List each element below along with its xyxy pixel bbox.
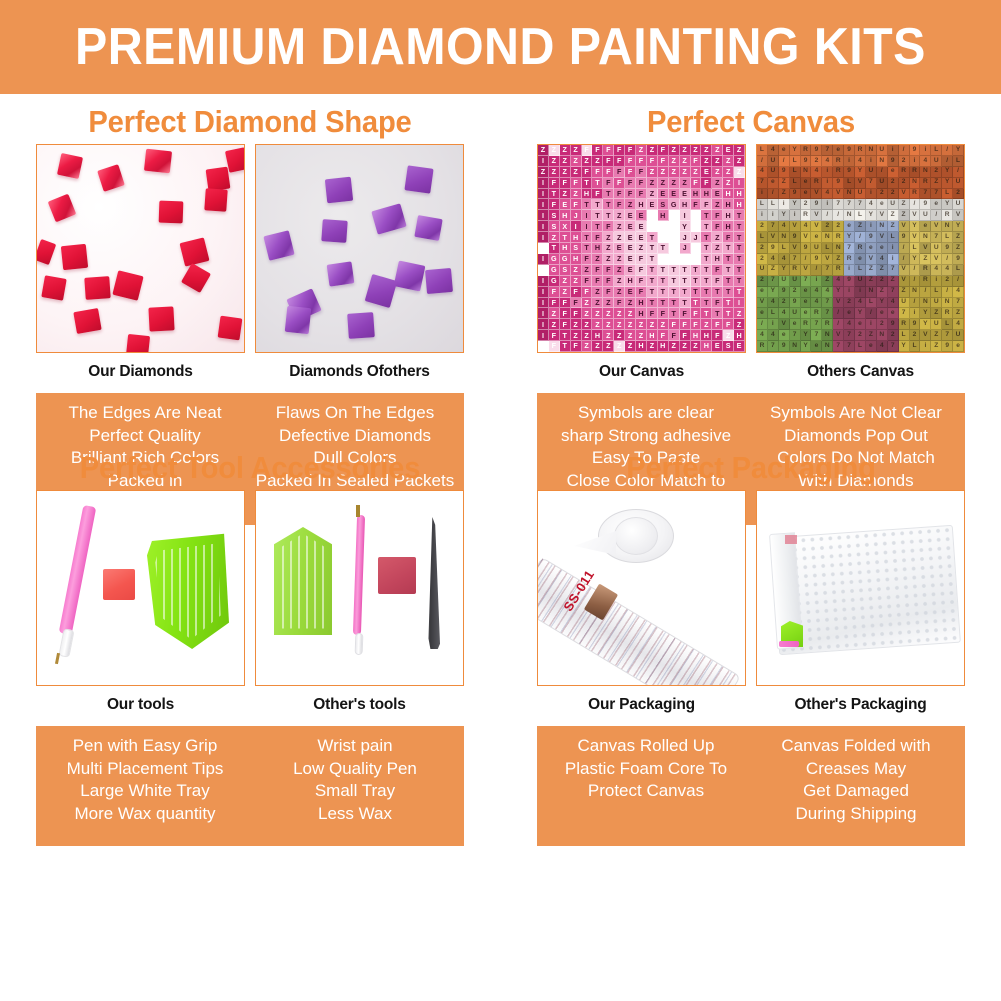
caption-other-packaging: Other's Packaging xyxy=(756,696,965,714)
symbol-cell: V xyxy=(811,210,822,221)
drill-purple xyxy=(327,261,355,286)
symbol-cell: T xyxy=(680,298,691,309)
symbol-cell: R xyxy=(790,265,801,276)
symbol-cell: R xyxy=(910,167,921,178)
symbol-cell: e xyxy=(855,319,866,330)
symbol-cell: Z xyxy=(592,254,603,265)
symbol-cell: Z xyxy=(636,243,647,254)
caption-others-canvas: Others Canvas xyxy=(756,363,965,381)
symbol-cell: V xyxy=(931,221,942,232)
symbol-cell: / xyxy=(942,145,953,156)
symbol-cell: T xyxy=(582,178,593,189)
symbol-cell: 2 xyxy=(757,254,768,265)
symbol-cell: e xyxy=(877,243,888,254)
symbol-cell: Z xyxy=(701,145,712,156)
symbol-cell: T xyxy=(658,287,669,298)
image-pair-packaging: SS-011 Our Packaging xyxy=(511,490,991,714)
drill-red xyxy=(225,147,245,173)
symbol-cell: Y xyxy=(910,254,921,265)
symbol-cell: Z xyxy=(669,156,680,167)
symbol-cell: L xyxy=(942,189,953,200)
symbol-cell: 4 xyxy=(757,167,768,178)
symbol-cell: e xyxy=(866,243,877,254)
symbol-cell: U xyxy=(757,265,768,276)
symbol-cell: N xyxy=(920,232,931,243)
symbol-cell: Z xyxy=(647,145,658,156)
symbol-cell: E xyxy=(669,189,680,200)
symbol-cell: i xyxy=(888,243,899,254)
drill-red xyxy=(144,149,172,174)
drill-red xyxy=(84,276,110,300)
symbol-cell: V xyxy=(899,221,910,232)
symbol-cell: e xyxy=(768,178,779,189)
symbol-cell: i xyxy=(855,287,866,298)
symbol-cell: Z xyxy=(571,276,582,287)
symbol-cell: Z xyxy=(614,232,625,243)
symbol-grid-others: L4eYR97e9RNUi/9iL/Y/U/L924Ri4iN92i4U/L4U… xyxy=(757,145,964,352)
symbol-cell: L xyxy=(768,308,779,319)
symbol-cell: H xyxy=(636,298,647,309)
symbol-cell: F xyxy=(603,156,614,167)
symbol-cell: Z xyxy=(603,298,614,309)
symbol-cell: Z xyxy=(560,276,571,287)
symbol-cell: I xyxy=(538,341,549,352)
symbol-cell: Y xyxy=(953,145,964,156)
symbol-cell: 4 xyxy=(822,189,833,200)
symbol-cell: T xyxy=(734,287,745,298)
photo-our-packaging: SS-011 xyxy=(537,490,746,686)
symbol-cell: R xyxy=(833,156,844,167)
symbol-cell: 9 xyxy=(779,167,790,178)
symbol-cell: 9 xyxy=(942,243,953,254)
symbol-cell: E xyxy=(636,232,647,243)
symbol-cell: T xyxy=(680,254,691,265)
symbol-cell: F xyxy=(712,276,723,287)
symbol-cell: Z xyxy=(614,319,625,330)
symbol-cell: / xyxy=(899,243,910,254)
symbol-cell: E xyxy=(625,221,636,232)
symbol-cell: F xyxy=(603,178,614,189)
symbol-cell: 7 xyxy=(866,178,877,189)
symbol-cell: L xyxy=(790,156,801,167)
symbol-cell: Z xyxy=(877,265,888,276)
symbol-cell: 9 xyxy=(844,145,855,156)
caption-other-tools: Other's tools xyxy=(255,696,464,714)
symbol-cell: e xyxy=(888,167,899,178)
symbol-cell: V xyxy=(779,319,790,330)
feature-box-packaging: Canvas Rolled Up Plastic Foam Core To Pr… xyxy=(537,726,965,846)
symbol-cell: Y xyxy=(790,145,801,156)
symbol-cell: 2 xyxy=(953,189,964,200)
symbol-cell: H xyxy=(723,189,734,200)
symbol-cell: H xyxy=(734,330,745,341)
symbol-cell: Y xyxy=(942,178,953,189)
symbol-cell: H xyxy=(636,341,647,352)
symbol-cell: Y xyxy=(877,298,888,309)
symbol-cell: R xyxy=(855,145,866,156)
symbol-cell: 2 xyxy=(877,276,888,287)
symbol-cell: i xyxy=(866,156,877,167)
symbol-cell: i xyxy=(822,178,833,189)
symbol-cell: L xyxy=(910,243,921,254)
symbol-cell: 4 xyxy=(801,221,812,232)
symbol-cell: Z xyxy=(614,308,625,319)
symbol-cell: 7 xyxy=(920,189,931,200)
symbol-cell: Z xyxy=(723,178,734,189)
symbol-cell: F xyxy=(614,178,625,189)
symbol-cell: 9 xyxy=(811,254,822,265)
symbol-cell: Z xyxy=(560,189,571,200)
symbol-cell: I xyxy=(538,221,549,232)
symbol-cell: E xyxy=(636,221,647,232)
symbol-cell: F xyxy=(712,210,723,221)
symbol-cell: J xyxy=(669,243,680,254)
symbol-cell: e xyxy=(811,232,822,243)
image-pair-canvas: ZZZZFFFFFZZFZZZZZEZIZZZZZFFFFFFZZFZZZZZZ… xyxy=(511,144,991,381)
symbol-cell: L xyxy=(822,243,833,254)
symbol-cell: L xyxy=(855,341,866,352)
symbol-cell: F xyxy=(625,189,636,200)
symbol-cell: Z xyxy=(571,319,582,330)
symbol-cell: 2 xyxy=(942,276,953,287)
symbol-cell: Z xyxy=(680,145,691,156)
feature-line: Pen with Easy Grip xyxy=(42,735,248,758)
symbol-cell: T xyxy=(669,254,680,265)
symbol-cell: F xyxy=(571,298,582,309)
symbol-cell: E xyxy=(625,265,636,276)
symbol-cell: 2 xyxy=(757,243,768,254)
symbol-cell: 7 xyxy=(768,341,779,352)
symbol-cell: Z xyxy=(779,189,790,200)
symbol-cell: T xyxy=(603,210,614,221)
photo-our-canvas: ZZZZFFFFFZZFZZZZZEZIZZZZZFFFFFFZZFZZZZZZ… xyxy=(537,144,746,353)
symbol-cell: Y xyxy=(691,254,702,265)
symbol-cell: E xyxy=(658,189,669,200)
symbol-cell: T xyxy=(723,254,734,265)
symbol-cell: E xyxy=(625,232,636,243)
photo-other-packaging xyxy=(756,490,965,686)
symbol-cell: L xyxy=(768,199,779,210)
symbol-cell: T xyxy=(669,298,680,309)
symbol-cell: E xyxy=(712,189,723,200)
symbol-cell: Z xyxy=(658,319,669,330)
symbol-cell: T xyxy=(658,276,669,287)
symbol-cell: F xyxy=(614,189,625,200)
symbol-cell: H xyxy=(658,210,669,221)
drill-purple xyxy=(425,268,453,294)
symbol-cell: Z xyxy=(712,178,723,189)
symbol-cell: 4 xyxy=(811,287,822,298)
symbol-cell: J xyxy=(691,210,702,221)
symbol-cell: U xyxy=(768,167,779,178)
symbol-cell: 9 xyxy=(899,232,910,243)
symbol-cell: H xyxy=(560,210,571,221)
symbol-cell: 2 xyxy=(899,156,910,167)
symbol-cell: Y xyxy=(680,221,691,232)
feature-line: Canvas Folded with xyxy=(753,735,959,758)
symbol-cell: 2 xyxy=(779,298,790,309)
symbol-cell: e xyxy=(801,298,812,309)
symbol-cell: H xyxy=(560,243,571,254)
symbol-cell: e xyxy=(757,308,768,319)
symbol-cell: Y xyxy=(942,199,953,210)
symbol-cell: Y xyxy=(953,221,964,232)
symbol-cell: / xyxy=(953,167,964,178)
symbol-cell: F xyxy=(636,189,647,200)
symbol-cell: F xyxy=(582,167,593,178)
symbol-cell: S xyxy=(723,341,734,352)
symbol-cell: N xyxy=(866,287,877,298)
photo-other-tools xyxy=(255,490,464,686)
symbol-cell: Z xyxy=(866,330,877,341)
symbol-cell: Y xyxy=(801,330,812,341)
symbol-cell: Z xyxy=(669,167,680,178)
symbol-cell: e xyxy=(801,178,812,189)
symbol-cell: Y xyxy=(691,221,702,232)
symbol-cell: / xyxy=(910,276,921,287)
symbol-cell: N xyxy=(833,243,844,254)
symbol-cell: 4 xyxy=(877,341,888,352)
symbol-cell: E xyxy=(647,199,658,210)
symbol-cell: 4 xyxy=(822,156,833,167)
symbol-cell: / xyxy=(757,156,768,167)
symbol-cell: T xyxy=(658,243,669,254)
symbol-cell: F xyxy=(636,178,647,189)
photo-our-diamonds xyxy=(36,144,245,353)
symbol-cell: Z xyxy=(538,145,549,156)
symbol-cell: F xyxy=(560,308,571,319)
symbol-cell: i xyxy=(844,287,855,298)
symbol-cell: F xyxy=(680,319,691,330)
symbol-cell: S xyxy=(571,243,582,254)
symbol-cell: 9 xyxy=(801,156,812,167)
symbol-cell: T xyxy=(701,298,712,309)
symbol-cell: F xyxy=(712,319,723,330)
symbol-cell: Z xyxy=(560,156,571,167)
symbol-cell: T xyxy=(701,276,712,287)
symbol-cell: 4 xyxy=(942,265,953,276)
symbol-cell: U xyxy=(779,276,790,287)
symbol-cell: Z xyxy=(888,221,899,232)
symbol-cell: i xyxy=(822,199,833,210)
feature-line: Wrist pain xyxy=(252,735,458,758)
symbol-cell: / xyxy=(833,319,844,330)
symbol-cell: H xyxy=(647,330,658,341)
symbol-cell: 7 xyxy=(822,308,833,319)
symbol-cell: 9 xyxy=(844,276,855,287)
symbol-cell: e xyxy=(888,308,899,319)
feature-line: Plastic Foam Core To xyxy=(543,758,749,781)
symbol-cell: / xyxy=(942,287,953,298)
symbol-cell: V xyxy=(790,221,801,232)
symbol-cell: N xyxy=(790,341,801,352)
symbol-cell: U xyxy=(877,145,888,156)
symbol-cell: Z xyxy=(614,254,625,265)
wax-square xyxy=(378,557,416,594)
symbol-cell: Z xyxy=(614,341,625,352)
symbol-cell: T xyxy=(701,254,712,265)
symbol-cell: F xyxy=(592,265,603,276)
symbol-cell: i xyxy=(931,276,942,287)
symbol-cell: T xyxy=(647,287,658,298)
symbol-cell: Z xyxy=(614,221,625,232)
symbol-cell: i xyxy=(790,210,801,221)
caption-other-diamonds: Diamonds Ofothers xyxy=(255,363,464,381)
symbol-cell: Z xyxy=(899,199,910,210)
symbol-cell: 9 xyxy=(790,298,801,309)
symbol-cell: T xyxy=(669,276,680,287)
symbol-cell: F xyxy=(614,156,625,167)
symbol-cell: I xyxy=(538,243,549,254)
symbol-cell: Z xyxy=(768,265,779,276)
symbol-cell: 7 xyxy=(888,265,899,276)
symbol-cell: 7 xyxy=(811,330,822,341)
image-pair-tools: Our tools xyxy=(10,490,490,714)
symbol-cell: H xyxy=(723,221,734,232)
symbol-cell: V xyxy=(833,298,844,309)
section-title-packaging: Perfect Packaging xyxy=(525,446,976,490)
symbol-cell: Y xyxy=(910,221,921,232)
symbol-cell: Z xyxy=(603,232,614,243)
symbol-cell: F xyxy=(691,156,702,167)
symbol-cell: H xyxy=(592,243,603,254)
symbol-cell: F xyxy=(658,308,669,319)
symbol-cell: 7 xyxy=(822,298,833,309)
symbol-cell: e xyxy=(779,145,790,156)
symbol-cell: L xyxy=(866,298,877,309)
symbol-cell: Z xyxy=(614,265,625,276)
section-title-canvas: Perfect Canvas xyxy=(525,100,976,144)
symbol-cell: Z xyxy=(712,243,723,254)
symbol-cell: T xyxy=(592,178,603,189)
symbol-cell: F xyxy=(603,265,614,276)
symbol-cell: F xyxy=(549,199,560,210)
pen-tip xyxy=(355,633,364,655)
symbol-cell: / xyxy=(822,210,833,221)
symbol-cell: T xyxy=(701,308,712,319)
symbol-cell: 9 xyxy=(844,167,855,178)
symbol-cell: F xyxy=(603,167,614,178)
symbol-cell: N xyxy=(920,298,931,309)
symbol-cell: / xyxy=(910,298,921,309)
symbol-cell: F xyxy=(712,330,723,341)
symbol-cell: U xyxy=(953,330,964,341)
symbol-cell: U xyxy=(855,189,866,200)
symbol-cell: / xyxy=(768,189,779,200)
symbol-cell: V xyxy=(811,189,822,200)
symbol-cell: H xyxy=(691,189,702,200)
symbol-cell: U xyxy=(811,243,822,254)
symbol-cell: E xyxy=(560,199,571,210)
symbol-cell: Z xyxy=(931,178,942,189)
symbol-cell: 4 xyxy=(855,298,866,309)
symbol-cell: T xyxy=(560,341,571,352)
symbol-cell: L xyxy=(855,265,866,276)
symbol-cell: T xyxy=(658,298,669,309)
symbol-cell: J xyxy=(658,232,669,243)
symbol-cell: Z xyxy=(582,156,593,167)
symbol-cell: i xyxy=(822,167,833,178)
symbol-cell: 4 xyxy=(844,319,855,330)
symbol-cell: Z xyxy=(592,298,603,309)
symbol-cell: F xyxy=(549,178,560,189)
symbol-cell: I xyxy=(734,298,745,309)
symbol-cell: L xyxy=(953,265,964,276)
symbol-cell: Z xyxy=(712,156,723,167)
symbol-cell: Z xyxy=(603,341,614,352)
symbol-cell: H xyxy=(592,330,603,341)
symbol-cell: Z xyxy=(920,254,931,265)
symbol-cell: N xyxy=(877,156,888,167)
symbol-cell: T xyxy=(680,276,691,287)
symbol-cell: 9 xyxy=(811,199,822,210)
symbol-cell: R xyxy=(833,232,844,243)
symbol-cell: e xyxy=(844,221,855,232)
symbol-cell: e xyxy=(931,199,942,210)
symbol-cell: R xyxy=(942,308,953,319)
symbol-cell: Y xyxy=(844,232,855,243)
symbol-cell: Z xyxy=(658,167,669,178)
symbol-cell: Z xyxy=(614,330,625,341)
symbol-cell: L xyxy=(757,199,768,210)
symbol-cell: Z xyxy=(614,287,625,298)
symbol-cell: F xyxy=(549,298,560,309)
symbol-cell: H xyxy=(734,199,745,210)
symbol-cell: T xyxy=(680,287,691,298)
symbol-cell: V xyxy=(899,276,910,287)
symbol-cell: T xyxy=(603,199,614,210)
symbol-cell: 4 xyxy=(811,167,822,178)
wax-square xyxy=(103,569,135,600)
symbol-cell: 2 xyxy=(833,221,844,232)
symbol-cell: e xyxy=(920,221,931,232)
symbol-cell: L xyxy=(931,287,942,298)
symbol-cell: S xyxy=(549,221,560,232)
symbol-cell: E xyxy=(701,167,712,178)
feature-line: Protect Canvas xyxy=(543,780,749,803)
symbol-cell: Z xyxy=(647,341,658,352)
symbol-cell: T xyxy=(680,265,691,276)
symbol-cell: 9 xyxy=(888,319,899,330)
symbol-cell: T xyxy=(734,232,745,243)
sections-grid: Perfect Diamond Shape xyxy=(0,94,1001,1001)
symbol-cell: T xyxy=(691,243,702,254)
symbol-cell: I xyxy=(538,330,549,341)
feature-line: Get Damaged xyxy=(753,780,959,803)
image-pair-diamond-shape: Our Diamonds xyxy=(10,144,490,381)
symbol-cell: R xyxy=(801,319,812,330)
symbol-cell: Z xyxy=(669,341,680,352)
symbol-cell: 9 xyxy=(801,243,812,254)
symbol-cell: H xyxy=(582,189,593,200)
symbol-cell: T xyxy=(658,254,669,265)
symbol-cell: R xyxy=(920,276,931,287)
symbol-cell: F xyxy=(712,298,723,309)
symbol-cell: 9 xyxy=(910,319,921,330)
symbol-cell: Z xyxy=(953,232,964,243)
page-title: PREMIUM DIAMOND PAINTING KITS xyxy=(75,17,926,77)
symbol-cell: i xyxy=(888,254,899,265)
symbol-cell: G xyxy=(560,254,571,265)
symbol-cell: Z xyxy=(701,319,712,330)
symbol-cell: 7 xyxy=(899,308,910,319)
symbol-cell: F xyxy=(723,232,734,243)
feature-line: Large White Tray xyxy=(42,780,248,803)
symbol-cell: F xyxy=(625,167,636,178)
infographic-page: PREMIUM DIAMOND PAINTING KITS Perfect Di… xyxy=(0,0,1001,1001)
symbol-cell: N xyxy=(822,341,833,352)
symbol-cell: U xyxy=(866,167,877,178)
